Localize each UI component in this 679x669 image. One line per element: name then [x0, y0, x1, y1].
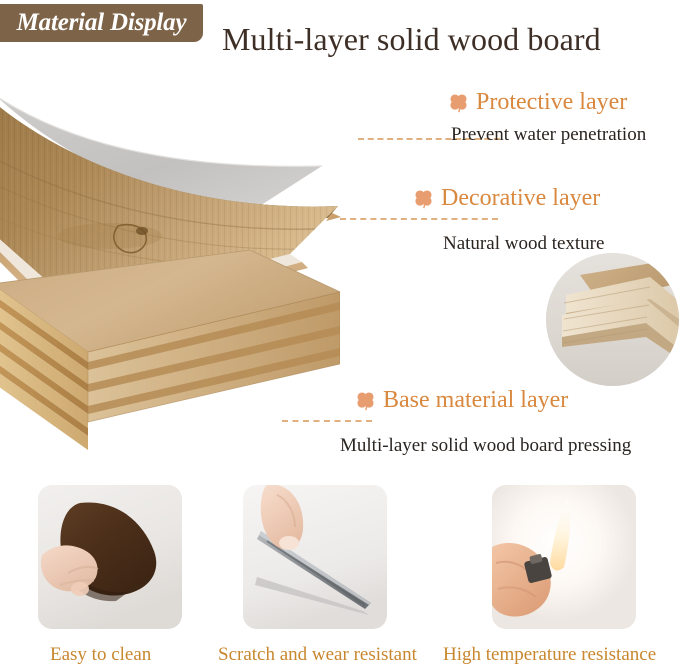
clover-icon	[448, 92, 469, 113]
feature-caption-high-temperature: High temperature resistance	[443, 645, 656, 664]
annotation-title: Protective layer	[476, 90, 627, 114]
material-display-infographic: Material Display Multi-layer solid wood …	[0, 0, 679, 669]
annotation-heading: Protective layer	[448, 90, 646, 114]
plywood-core-block	[0, 246, 340, 471]
feature-caption-scratch-resistant: Scratch and wear resistant	[218, 645, 417, 664]
hand-wiping-with-brown-cloth-photo	[38, 485, 182, 629]
annotation-protective-layer: Protective layer Prevent water penetrati…	[448, 90, 646, 144]
annotation-subtitle: Multi-layer solid wood board pressing	[340, 436, 631, 455]
feature-card-scratch-resistant[interactable]	[243, 485, 387, 629]
leader-arrow-icon	[326, 211, 342, 227]
annotation-title: Base material layer	[383, 388, 568, 412]
feature-cards-row	[0, 485, 679, 669]
annotation-subtitle: Prevent water penetration	[451, 125, 646, 144]
annotation-heading: Base material layer	[355, 388, 631, 412]
page-title: Multi-layer solid wood board	[222, 23, 601, 55]
annotation-subtitle: Natural wood texture	[443, 234, 604, 253]
feature-card-high-temperature[interactable]	[492, 485, 636, 629]
hand-scratching-with-metal-blade-photo	[243, 485, 387, 629]
material-display-badge: Material Display	[0, 4, 203, 42]
hand-holding-lighter-flame-photo	[492, 485, 636, 629]
annotation-heading: Decorative layer	[413, 186, 604, 210]
feature-caption-easy-to-clean: Easy to clean	[50, 645, 151, 664]
stacked-plywood-inset-photo	[546, 253, 679, 386]
annotation-base-material-layer: Base material layer Multi-layer solid wo…	[355, 388, 631, 455]
badge-label: Material Display	[17, 10, 187, 36]
clover-icon	[355, 390, 376, 411]
annotation-title: Decorative layer	[441, 186, 600, 210]
annotation-decorative-layer: Decorative layer Natural wood texture	[413, 186, 604, 253]
clover-icon	[413, 188, 434, 209]
feature-card-easy-to-clean[interactable]	[38, 485, 182, 629]
